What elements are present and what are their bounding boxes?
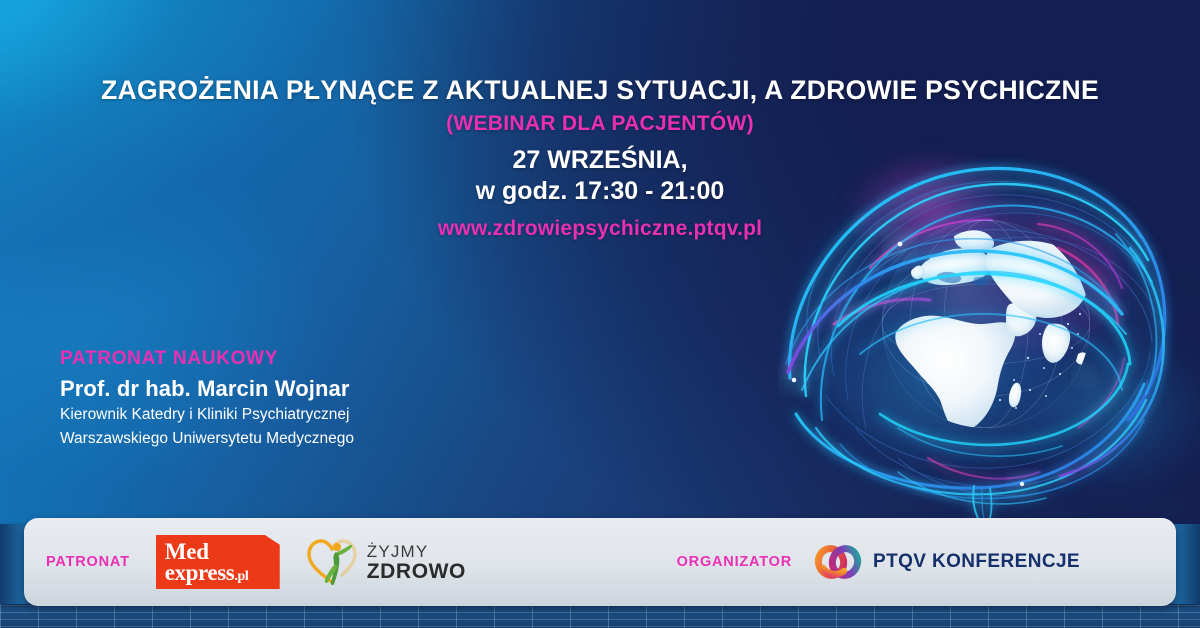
headline-block: ZAGROŻENIA PŁYNĄCE Z AKTUALNEJ SYTUACJI,… [0,0,1200,241]
ptqv-loop-icon [814,541,862,583]
organizer-group: ORGANIZATOR [677,541,1080,583]
medexpress-line2: express.pl [165,562,280,584]
organizer-label: ORGANIZATOR [677,554,792,570]
event-time: w godz. 17:30 - 21:00 [0,177,1200,207]
patronage-kicker: PATRONAT NAUKOWY [60,348,354,370]
zyjmy-zdrowo-logo[interactable]: ŻYJMY ZDROWO [306,537,466,587]
event-date: 27 WRZEŚNIA, [0,146,1200,176]
patron-label: PATRONAT [46,554,130,570]
scientific-patronage-block: PATRONAT NAUKOWY Prof. dr hab. Marcin Wo… [60,348,354,450]
patronage-role-line-2: Warszawskiego Uniwersytetu Medycznego [60,429,354,450]
webinar-banner: ZAGROŻENIA PŁYNĄCE Z AKTUALNEJ SYTUACJI,… [0,0,1200,628]
patronage-role-line-1: Kierownik Katedry i Kliniki Psychiatrycz… [60,405,354,426]
zyjmy-zdrowo-wordmark: ŻYJMY ZDROWO [367,543,466,582]
medexpress-logo[interactable]: Med express.pl [156,535,280,589]
footer-ribbon: PATRONAT Med express.pl [24,518,1176,606]
page-subtitle: (WEBINAR DLA PACJENTÓW) [0,112,1200,136]
heart-figure-icon [306,537,358,587]
zdrowo-word: ZDROWO [367,561,466,582]
event-url[interactable]: www.zdrowiepsychiczne.ptqv.pl [0,217,1200,241]
patronage-person-name: Prof. dr hab. Marcin Wojnar [60,376,354,402]
medexpress-word: express [165,560,235,585]
ptqv-logo[interactable]: PTQV KONFERENCJE [814,541,1080,583]
ptqv-wordmark: PTQV KONFERENCJE [873,551,1080,573]
medexpress-suffix: .pl [234,569,248,584]
footer-ribbon-wrapper: PATRONAT Med express.pl [0,518,1200,610]
patron-group: PATRONAT Med express.pl [46,535,466,589]
zyjmy-word: ŻYJMY [367,543,466,560]
medexpress-line1: Med [165,541,280,562]
page-title: ZAGROŻENIA PŁYNĄCE Z AKTUALNEJ SYTUACJI,… [0,0,1200,106]
